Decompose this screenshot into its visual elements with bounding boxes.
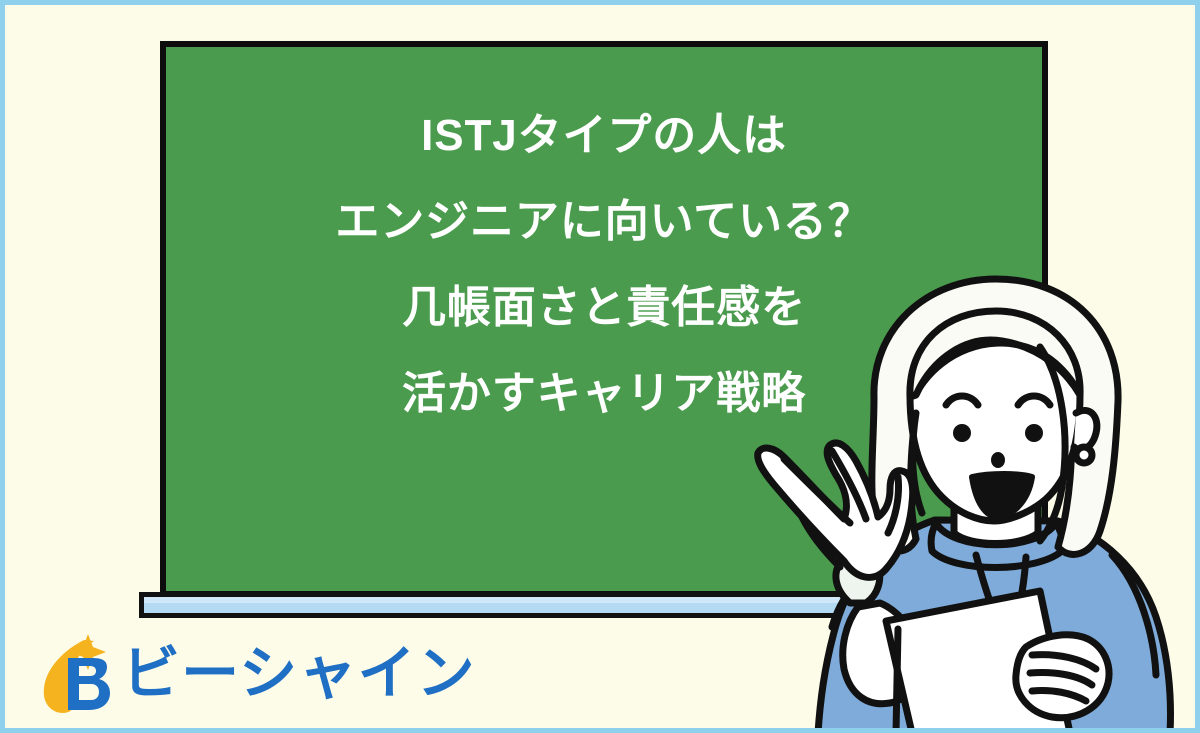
- brand-logo[interactable]: ビーシャイン: [38, 634, 476, 714]
- banner-canvas: ISTJタイプの人は エンジニアに向いている？ 几帳面さと責任感を 活かすキャリ…: [0, 0, 1200, 733]
- logo-mark-b-icon: [38, 634, 116, 714]
- eye-left: [953, 424, 971, 442]
- nose: [991, 452, 1005, 468]
- title-line-2: エンジニアに向いている？: [166, 179, 1042, 265]
- paper-fold-line: [896, 629, 898, 733]
- title-line-1: ISTJタイプの人は: [166, 93, 1042, 179]
- earring-icon: [1076, 447, 1092, 463]
- logo-brand-name: ビーシャイン: [122, 645, 476, 703]
- eye-right: [1025, 424, 1043, 442]
- logo-letter-b: [68, 658, 110, 710]
- woman-teacher-illustration: [740, 255, 1200, 733]
